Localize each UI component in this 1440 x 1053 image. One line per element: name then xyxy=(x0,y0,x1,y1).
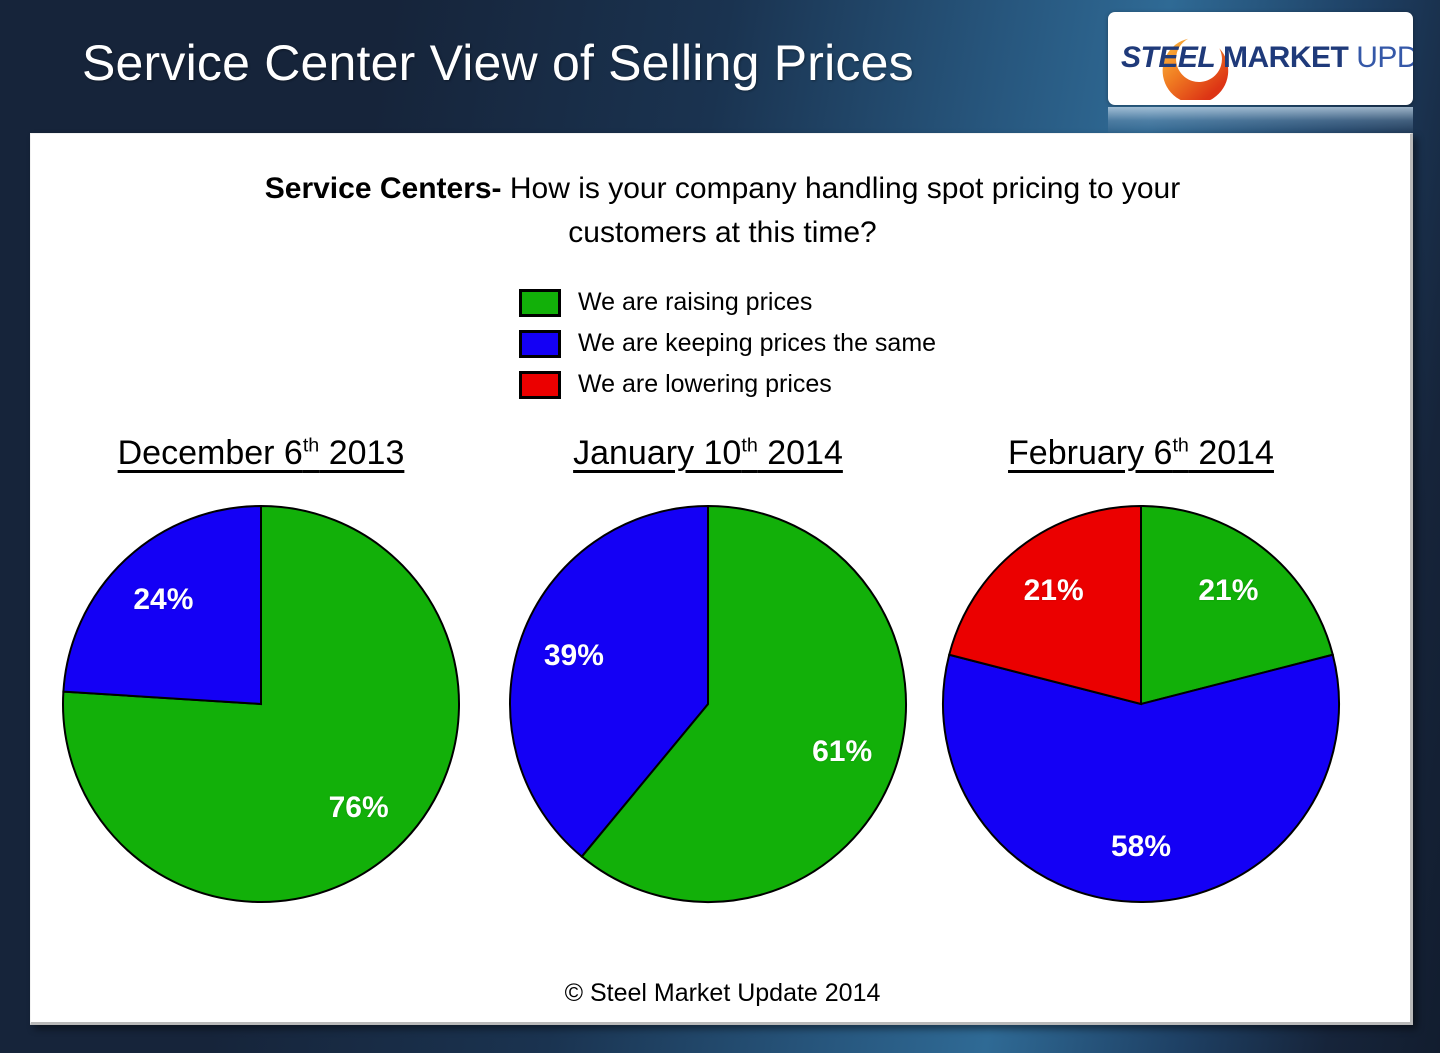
pie-canvas-december: 76%24% xyxy=(61,504,461,904)
pie-slice-label: 24% xyxy=(133,583,193,617)
slide: Service Center View of Selling Prices ST… xyxy=(0,0,1440,1053)
logo-card: STEEL MARKET UPDATE xyxy=(1108,12,1413,105)
legend-item-lowering: We are lowering prices xyxy=(519,364,936,405)
pie-chart-group: December 6th 2013 76%24% January 10th 20… xyxy=(31,434,1414,964)
pie-slice-label: 39% xyxy=(544,639,604,673)
slide-header: Service Center View of Selling Prices ST… xyxy=(0,0,1440,133)
pie-slice-label: 61% xyxy=(812,735,872,769)
question-lead: Service Centers- xyxy=(265,172,502,205)
logo-word-update: UPDATE xyxy=(1356,41,1413,74)
pie-slice-label: 21% xyxy=(1024,574,1084,608)
ordinal-suffix: th xyxy=(303,435,319,457)
pie-svg xyxy=(508,504,908,904)
legend-label-raising: We are raising prices xyxy=(578,288,812,317)
pie-chart-january: January 10th 2014 61%39% xyxy=(493,434,923,934)
pie-chart-december: December 6th 2013 76%24% xyxy=(46,434,476,934)
legend-swatch-green xyxy=(519,289,561,317)
legend-swatch-red xyxy=(519,371,561,399)
logo-reflection xyxy=(1108,107,1413,133)
legend-item-raising: We are raising prices xyxy=(519,282,936,323)
pie-svg xyxy=(61,504,461,904)
pie-chart-title-december: December 6th 2013 xyxy=(46,434,476,473)
survey-question: Service Centers- How is your company han… xyxy=(31,167,1414,255)
pie-slice-label: 76% xyxy=(329,791,389,825)
question-body: How is your company handling spot pricin… xyxy=(502,172,1181,249)
legend-swatch-blue xyxy=(519,330,561,358)
content-panel: Service Centers- How is your company han… xyxy=(30,133,1413,1025)
pie-slice-label: 21% xyxy=(1198,574,1258,608)
pie-chart-february: February 6th 2014 21%58%21% xyxy=(926,434,1356,934)
logo-word-market: MARKET xyxy=(1223,41,1348,74)
ordinal-suffix: th xyxy=(741,435,757,457)
logo-wordmark: STEEL MARKET UPDATE xyxy=(1121,40,1413,76)
pie-chart-title-february: February 6th 2014 xyxy=(926,434,1356,473)
copyright-footer: © Steel Market Update 2014 xyxy=(31,979,1414,1008)
pie-slice-label: 58% xyxy=(1111,830,1171,864)
chart-legend: We are raising prices We are keeping pri… xyxy=(519,282,936,405)
legend-label-lowering: We are lowering prices xyxy=(578,370,832,399)
pie-canvas-january: 61%39% xyxy=(508,504,908,904)
pie-chart-title-january: January 10th 2014 xyxy=(493,434,923,473)
steel-market-update-logo: STEEL MARKET UPDATE xyxy=(1108,12,1438,133)
pie-canvas-february: 21%58%21% xyxy=(941,504,1341,904)
ordinal-suffix: th xyxy=(1172,435,1188,457)
page-title: Service Center View of Selling Prices xyxy=(82,34,914,92)
legend-item-keeping: We are keeping prices the same xyxy=(519,323,936,364)
legend-label-keeping: We are keeping prices the same xyxy=(578,329,936,358)
logo-word-steel: STEEL xyxy=(1121,41,1215,74)
